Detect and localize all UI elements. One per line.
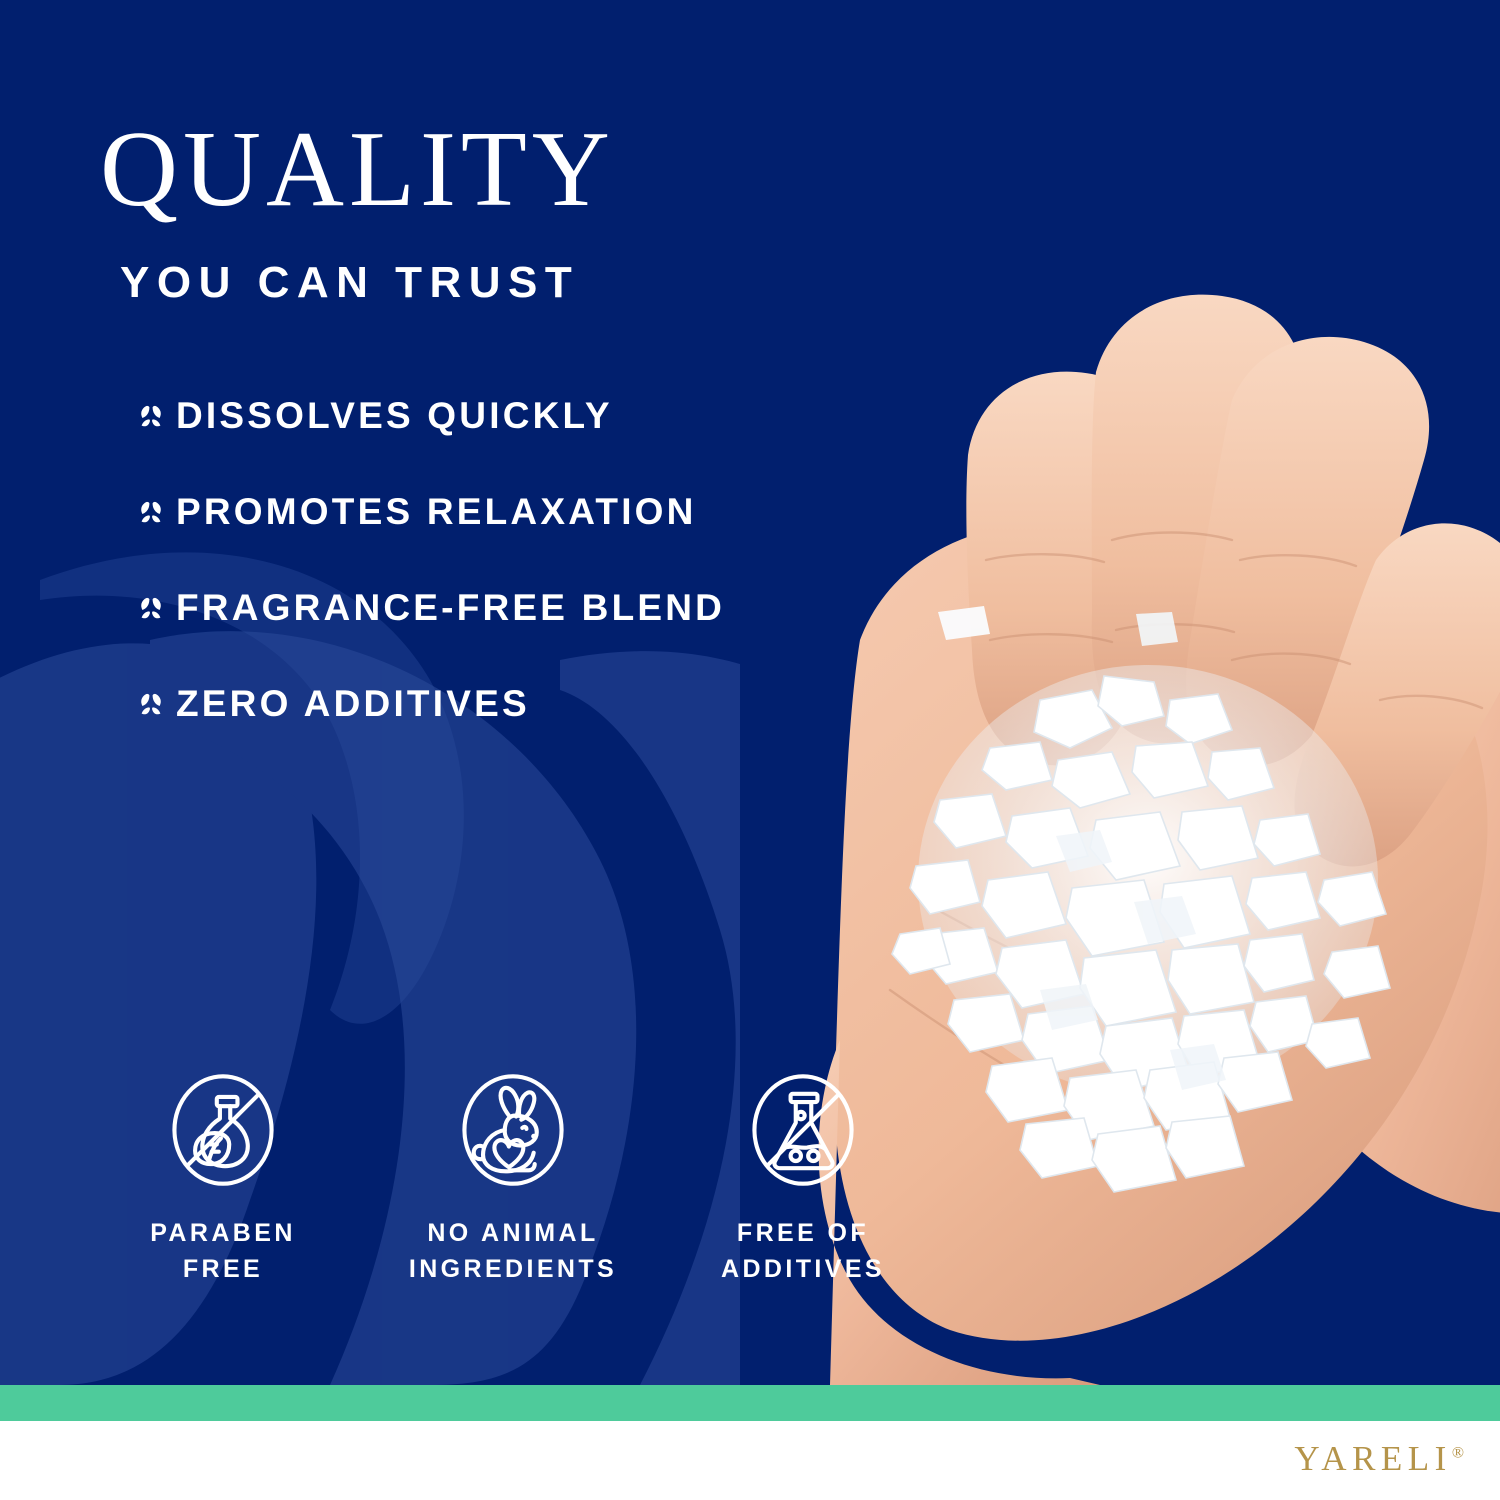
trust-badge-row: PARABEN FREE — [78, 1068, 948, 1287]
badge-paraben-free: PARABEN FREE — [78, 1068, 368, 1287]
benefit-label: FRAGRANCE-FREE BLEND — [176, 587, 725, 629]
badge-label-line1: FREE OF — [737, 1219, 869, 1247]
list-item: DISSOLVES QUICKLY — [134, 368, 894, 464]
benefit-list: DISSOLVES QUICKLY PROMOTES RELAXATION — [134, 368, 894, 752]
main-panel: QUALITY YOU CAN TRUST DISSOLVES QUICKLY — [0, 0, 1500, 1385]
badge-label-line2: INGREDIENTS — [409, 1255, 617, 1283]
list-item: PROMOTES RELAXATION — [134, 464, 894, 560]
badge-label-line1: NO ANIMAL — [427, 1219, 598, 1247]
product-infographic: QUALITY YOU CAN TRUST DISSOLVES QUICKLY — [0, 0, 1500, 1500]
no-additives-flask-icon — [741, 1068, 865, 1192]
leaf-pair-bullet-icon — [134, 399, 168, 433]
page-subtitle: YOU CAN TRUST — [120, 258, 579, 308]
registered-trademark-icon: ® — [1452, 1444, 1464, 1461]
benefit-label: ZERO ADDITIVES — [176, 683, 530, 725]
page-title: QUALITY — [100, 116, 615, 224]
footer-bar: YARELI® — [0, 1421, 1500, 1500]
list-item: FRAGRANCE-FREE BLEND — [134, 560, 894, 656]
badge-free-of-additives: FREE OF ADDITIVES — [658, 1068, 948, 1287]
badge-label-line2: FREE — [183, 1255, 263, 1283]
rabbit-heart-cruelty-free-icon — [451, 1068, 575, 1192]
leaf-pair-bullet-icon — [134, 591, 168, 625]
green-divider — [0, 1385, 1500, 1421]
benefit-label: PROMOTES RELAXATION — [176, 491, 697, 533]
badge-label: NO ANIMAL INGREDIENTS — [409, 1216, 617, 1287]
badge-label: FREE OF ADDITIVES — [721, 1216, 885, 1287]
benefit-label: DISSOLVES QUICKLY — [176, 395, 613, 437]
brand-name: YARELI — [1294, 1439, 1451, 1478]
badge-label-line1: PARABEN — [150, 1219, 296, 1247]
badge-label: PARABEN FREE — [150, 1216, 296, 1287]
leaf-pair-bullet-icon — [134, 495, 168, 529]
list-item: ZERO ADDITIVES — [134, 656, 894, 752]
badge-label-line2: ADDITIVES — [721, 1255, 885, 1283]
no-paraben-bottle-leaf-icon — [161, 1068, 285, 1192]
badge-no-animal-ingredients: NO ANIMAL INGREDIENTS — [368, 1068, 658, 1287]
leaf-pair-bullet-icon — [134, 687, 168, 721]
brand-logo: YARELI® — [1294, 1439, 1464, 1479]
